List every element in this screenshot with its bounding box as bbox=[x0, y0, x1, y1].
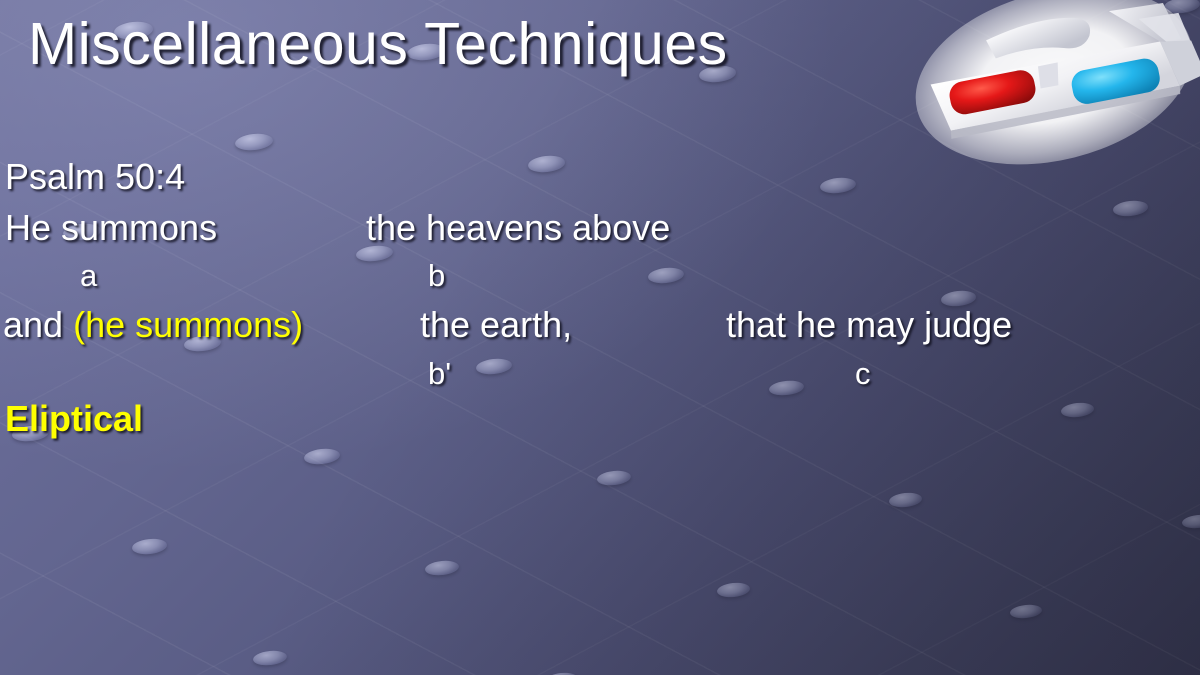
slide: Miscellaneous Techniques Psalm 50:4 He s… bbox=[0, 0, 1200, 675]
text-he-summons: He summons bbox=[5, 207, 217, 249]
text-that-he-may-judge: that he may judge bbox=[726, 304, 1012, 346]
text-and-he-summons: and (he summons) bbox=[3, 304, 303, 346]
text-and-prefix: and bbox=[3, 304, 73, 345]
structure-label-c: c bbox=[855, 356, 871, 392]
structure-label-b-prime: b' bbox=[428, 356, 451, 392]
slide-body: Psalm 50:4 He summons the heavens above … bbox=[0, 0, 1200, 675]
text-the-earth: the earth, bbox=[420, 304, 572, 346]
scripture-reference: Psalm 50:4 bbox=[5, 156, 185, 198]
technique-name: Eliptical bbox=[5, 398, 143, 440]
structure-label-a: a bbox=[80, 258, 97, 294]
text-he-summons-parenthetical: (he summons) bbox=[73, 304, 303, 345]
text-the-heavens-above: the heavens above bbox=[366, 207, 670, 249]
structure-label-b: b bbox=[428, 258, 445, 294]
